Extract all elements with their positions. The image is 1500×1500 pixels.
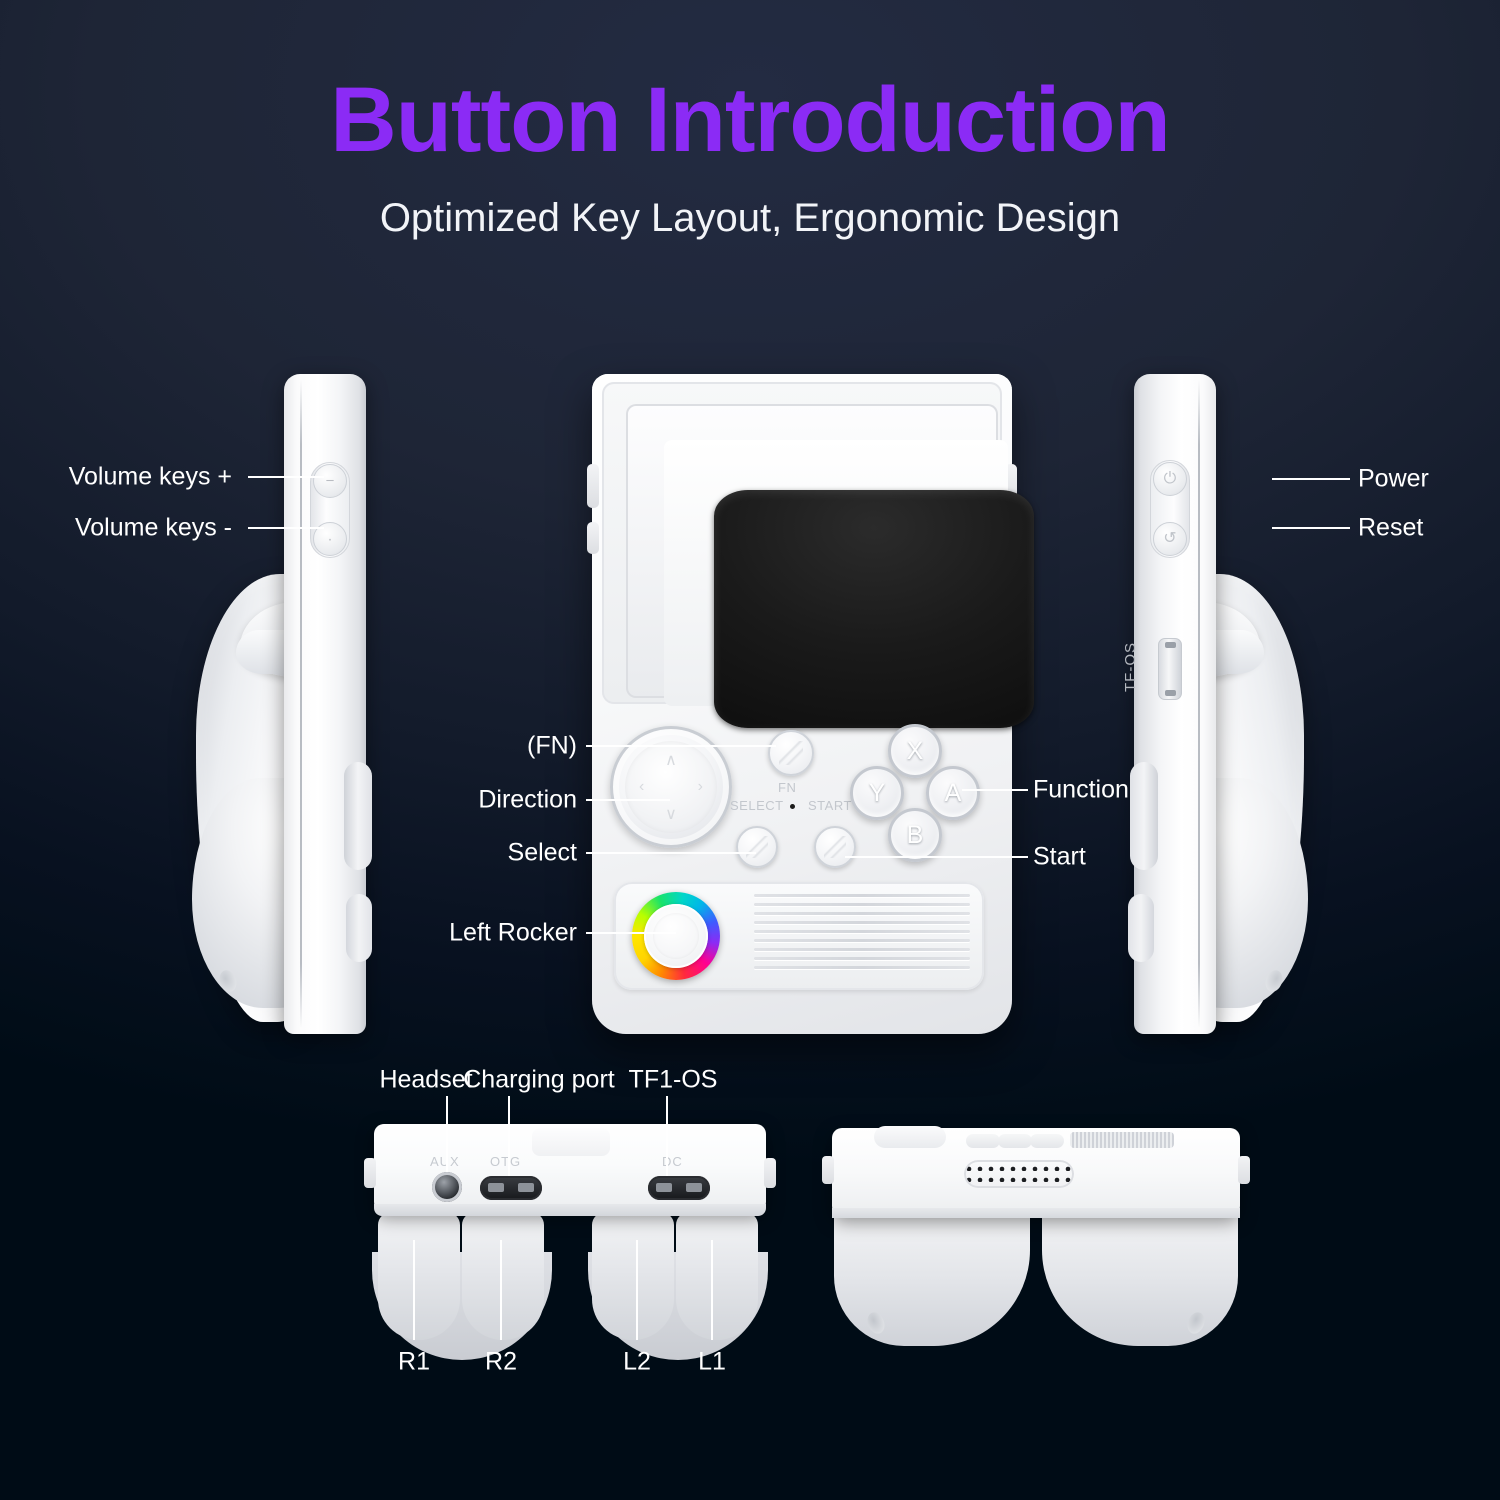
left-rocker-rgb-ring xyxy=(632,892,720,980)
power-icon: ⏻ xyxy=(1164,471,1177,487)
headset-jack[interactable] xyxy=(432,1172,462,1202)
bottom-nub-right xyxy=(764,1158,776,1188)
power-button[interactable]: ⏻ xyxy=(1153,462,1187,496)
leader-direction xyxy=(586,799,670,801)
leader-volume-up xyxy=(248,476,324,478)
leader-l1 xyxy=(711,1240,713,1340)
dc-pin-right xyxy=(686,1183,702,1192)
callout-power: Power xyxy=(1358,467,1429,492)
top-view xyxy=(818,1124,1254,1354)
callout-fn: (FN) xyxy=(527,734,577,759)
x-button[interactable]: X xyxy=(888,724,942,778)
page-title: Button Introduction xyxy=(0,72,1500,169)
top-grip-group xyxy=(834,1216,1238,1348)
reset-icon: ↺ xyxy=(1163,531,1176,547)
callout-direction: Direction xyxy=(478,788,577,813)
volume-down-icon: · xyxy=(328,532,333,547)
shoulder-pad-r2[interactable] xyxy=(462,1212,544,1340)
volume-up-icon: − xyxy=(326,474,335,489)
right-shoulder-button-upper[interactable] xyxy=(1130,762,1158,870)
top-bump-1 xyxy=(966,1134,1000,1148)
bottom-edge-lip xyxy=(374,1204,766,1216)
callout-l2: L2 xyxy=(623,1350,651,1375)
callout-headset: Headset xyxy=(379,1068,472,1093)
speaker-grille xyxy=(754,894,970,978)
left-rocker-cap[interactable] xyxy=(653,913,699,959)
shoulder-pad-r1[interactable] xyxy=(378,1212,460,1340)
dpad-right-icon: › xyxy=(698,779,703,795)
front-edge-nub-left-upper xyxy=(587,464,599,508)
power-reset-cluster[interactable]: ⏻ ↺ xyxy=(1150,460,1190,558)
speaker-panel xyxy=(614,882,984,990)
left-shoulder-button-upper[interactable] xyxy=(344,762,372,870)
top-ridged-texture xyxy=(1070,1132,1174,1148)
top-edge-lip xyxy=(832,1208,1240,1218)
callout-start: Start xyxy=(1033,845,1086,870)
screen-bezel-inner xyxy=(664,440,1008,706)
microphone-hole xyxy=(790,804,795,809)
top-bump-3 xyxy=(1030,1134,1064,1148)
aux-port-label: AUX xyxy=(430,1154,460,1169)
a-button[interactable]: A xyxy=(926,766,980,820)
start-button[interactable] xyxy=(814,826,856,868)
leader-function xyxy=(962,789,1028,791)
dpad-down-icon: ∨ xyxy=(665,807,677,823)
left-shoulder-button-lower[interactable] xyxy=(346,894,372,962)
top-shoulder-button[interactable] xyxy=(874,1126,946,1148)
bottom-center-hump xyxy=(532,1128,610,1156)
shoulder-pad-l2[interactable] xyxy=(592,1212,674,1340)
leader-select xyxy=(586,852,756,854)
right-shoulder-button-lower[interactable] xyxy=(1128,894,1154,962)
dpad-left-icon: ‹ xyxy=(639,779,644,795)
top-nub-left xyxy=(822,1156,834,1184)
callout-l1: L1 xyxy=(698,1350,726,1375)
right-side-view: ⏻ ↺ TF-OS xyxy=(1104,374,1304,1034)
bottom-nub-left xyxy=(364,1158,376,1188)
leader-headset xyxy=(446,1096,448,1172)
front-view: ∧ ∨ ‹ › FN SELECT START X Y A B xyxy=(592,374,1012,1034)
callout-left-rocker: Left Rocker xyxy=(449,921,577,946)
leader-left-rocker xyxy=(586,932,676,934)
top-grip-left xyxy=(834,1216,1030,1346)
select-button[interactable] xyxy=(736,826,778,868)
callout-reset: Reset xyxy=(1358,516,1423,541)
leader-l2 xyxy=(636,1240,638,1340)
shoulder-pad-l1[interactable] xyxy=(676,1212,758,1340)
front-edge-nub-left-lower xyxy=(587,522,599,554)
otg-charging-port[interactable] xyxy=(480,1176,542,1200)
callout-r2: R2 xyxy=(485,1350,517,1375)
callout-volume-up: Volume keys + xyxy=(69,465,232,490)
leader-r2 xyxy=(500,1240,502,1340)
otg-port-label: OTG xyxy=(490,1154,521,1169)
y-button[interactable]: Y xyxy=(850,766,904,820)
screen-bezel-outer xyxy=(626,404,998,698)
bottom-port-view: AUX OTG DC xyxy=(362,1124,778,1354)
volume-up-button[interactable]: − xyxy=(313,464,347,498)
select-button-label: SELECT xyxy=(730,798,784,813)
right-seam-line xyxy=(1198,380,1200,1028)
leader-fn xyxy=(586,745,776,747)
fn-button[interactable] xyxy=(768,730,814,776)
leader-r1 xyxy=(413,1240,415,1340)
callout-volume-down: Volume keys - xyxy=(75,516,232,541)
callout-select: Select xyxy=(508,841,577,866)
bottom-grip-group xyxy=(376,1212,764,1342)
tf-os-slot-label: TF-OS xyxy=(1122,642,1139,692)
fn-button-label: FN xyxy=(778,780,796,795)
otg-pin-right xyxy=(518,1183,534,1192)
callout-r1: R1 xyxy=(398,1350,430,1375)
top-grip-right xyxy=(1042,1216,1238,1346)
b-button[interactable]: B xyxy=(888,808,942,862)
leader-reset xyxy=(1272,527,1350,529)
leader-volume-down xyxy=(248,527,324,529)
left-rocker-stick[interactable] xyxy=(644,904,708,968)
top-bump-2 xyxy=(998,1134,1032,1148)
start-button-label: START xyxy=(808,798,852,813)
top-speaker-grille xyxy=(964,1160,1074,1188)
leader-power xyxy=(1272,478,1350,480)
reset-button[interactable]: ↺ xyxy=(1153,522,1187,556)
dc-pin-left xyxy=(656,1183,672,1192)
tf-card-slot[interactable] xyxy=(1158,638,1182,700)
page-subtitle: Optimized Key Layout, Ergonomic Design xyxy=(0,196,1500,241)
dpad-face[interactable]: ∧ ∨ ‹ › xyxy=(625,741,717,833)
dpad-up-icon: ∧ xyxy=(665,753,677,769)
callout-charging-port: Charging port xyxy=(463,1068,614,1093)
callout-tf1-os: TF1-OS xyxy=(629,1068,718,1093)
screen-plate xyxy=(602,382,1002,704)
leader-tf1-os xyxy=(666,1096,668,1176)
otg-pin-left xyxy=(488,1183,504,1192)
tf1-os-dc-port[interactable] xyxy=(648,1176,710,1200)
leader-charging-port xyxy=(508,1096,510,1176)
leader-start xyxy=(845,856,1028,858)
callout-function: Function xyxy=(1033,778,1129,803)
infographic-canvas: Button Introduction Optimized Key Layout… xyxy=(0,0,1500,1500)
top-nub-right xyxy=(1238,1156,1250,1184)
display-screen xyxy=(714,490,1034,728)
